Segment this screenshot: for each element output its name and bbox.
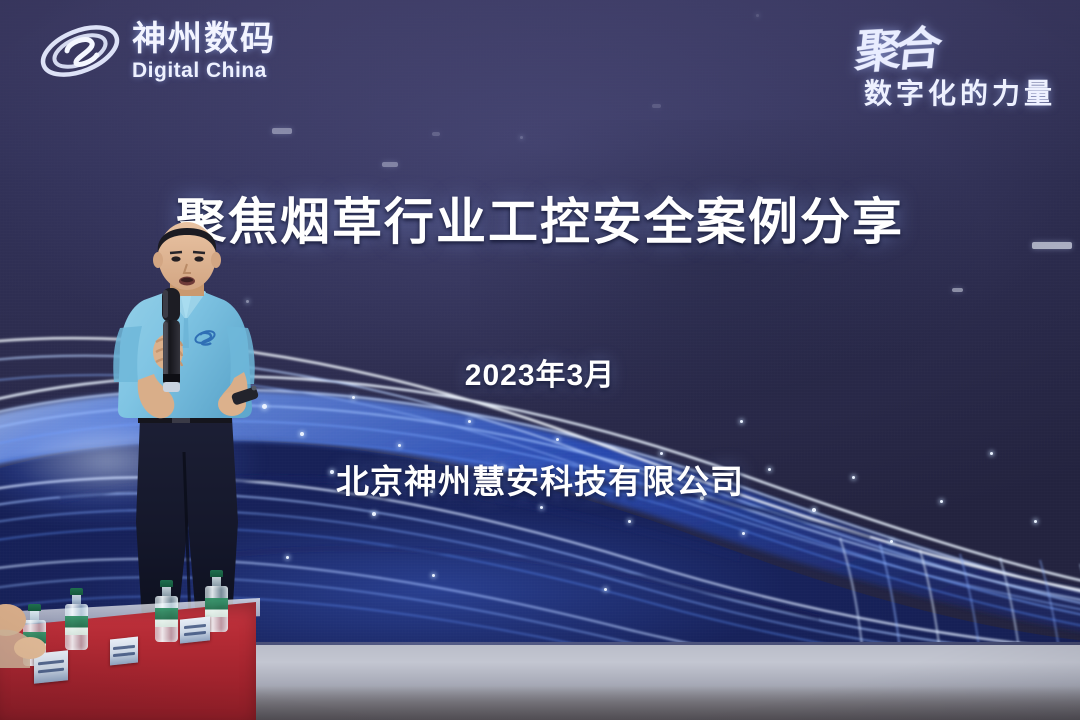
water-bottle [64, 588, 88, 650]
brand-logo: 神州数码 Digital China [38, 18, 276, 84]
brand-name-cn: 神州数码 [132, 22, 276, 56]
brand-text: 神州数码 Digital China [132, 22, 276, 81]
water-bottle [154, 580, 178, 642]
microphone-icon [162, 288, 180, 392]
brand-name-en: Digital China [132, 60, 276, 81]
judges-table [0, 580, 264, 720]
digital-china-spiral-logo-icon [38, 18, 122, 84]
presenter [92, 222, 282, 622]
name-card [110, 637, 138, 666]
event-mark: 聚合 数字化的力量 [856, 14, 1056, 112]
event-calligraphy: 聚合 [852, 12, 940, 82]
screenshot-root: 神州数码 Digital China 聚合 数字化的力量 聚焦烟草行业工控安全案… [0, 0, 1080, 720]
name-card [180, 616, 210, 643]
seated-attendee [0, 592, 66, 668]
